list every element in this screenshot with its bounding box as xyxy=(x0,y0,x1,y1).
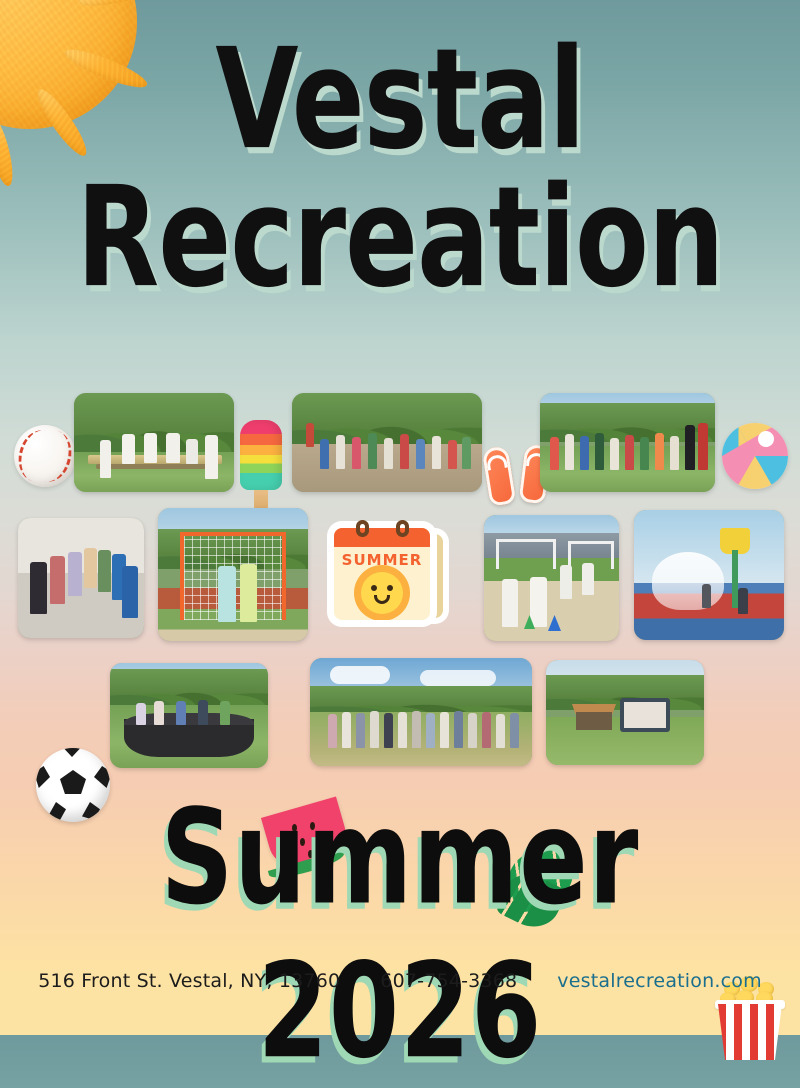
photo-boys-camp-group xyxy=(540,393,715,492)
photo-playground-group xyxy=(292,393,482,492)
beach-ball-sticker xyxy=(722,423,788,489)
footer-website-link[interactable]: vestalrecreation.com xyxy=(557,970,761,992)
title-line-2: Recreation xyxy=(16,174,784,303)
photo-splash-pad xyxy=(634,510,784,640)
photo-lacrosse-goal xyxy=(158,508,308,641)
summer-recreation-poster: Vestal Recreation xyxy=(0,0,800,1035)
footer-phone[interactable]: 607-754-3368 xyxy=(380,970,517,992)
photo-gaga-pit xyxy=(110,663,268,768)
baseball-sticker xyxy=(14,425,76,487)
photo-picnic-table-camp xyxy=(74,393,234,492)
season-title-text: Summer 2026 xyxy=(12,780,788,1087)
footer: 516 Front St. Vestal, NY, 13760 607-754-… xyxy=(0,964,800,998)
calendar-word: SUMMER xyxy=(334,551,430,569)
title-line-1: Vestal xyxy=(16,36,784,165)
footer-address: 516 Front St. Vestal, NY, 13760 xyxy=(38,970,340,992)
photo-indoor-group xyxy=(18,518,144,638)
poster-title: Vestal Recreation xyxy=(0,48,800,290)
summer-calendar-sticker: SUMMER xyxy=(330,518,442,624)
photo-movie-night xyxy=(546,660,704,765)
popsicle-sticker xyxy=(240,420,282,512)
photo-field-group xyxy=(310,658,532,766)
season-title: Summer 2026 xyxy=(0,812,800,1056)
photo-soccer-camp xyxy=(484,515,619,641)
